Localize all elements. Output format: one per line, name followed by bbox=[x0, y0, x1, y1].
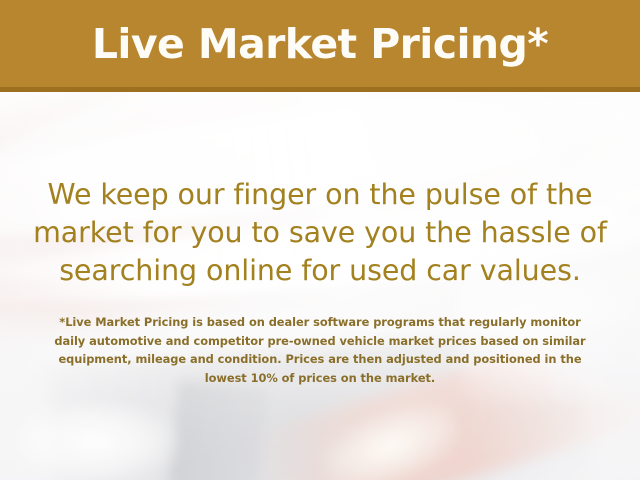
headline-line-3: searching online for used car values. bbox=[0, 252, 640, 290]
footnote-line-4: lowest 10% of prices on the market. bbox=[24, 369, 616, 388]
headline-line-2: market for you to save you the hassle of bbox=[0, 214, 640, 252]
footnote-line-1: *Live Market Pricing is based on dealer … bbox=[24, 313, 616, 332]
headline-block: We keep our finger on the pulse of the m… bbox=[0, 176, 640, 290]
header-banner: Live Market Pricing* bbox=[0, 0, 640, 92]
live-market-pricing-slide: Live Market Pricing* We keep our finger … bbox=[0, 0, 640, 480]
footnote-line-3: equipment, mileage and condition. Prices… bbox=[24, 350, 616, 369]
page-title: Live Market Pricing* bbox=[92, 24, 548, 65]
footnote-line-2: daily automotive and competitor pre-owne… bbox=[24, 332, 616, 351]
headline-line-1: We keep our finger on the pulse of the bbox=[0, 176, 640, 214]
content-area: We keep our finger on the pulse of the m… bbox=[0, 92, 640, 480]
footnote-block: *Live Market Pricing is based on dealer … bbox=[24, 313, 616, 387]
